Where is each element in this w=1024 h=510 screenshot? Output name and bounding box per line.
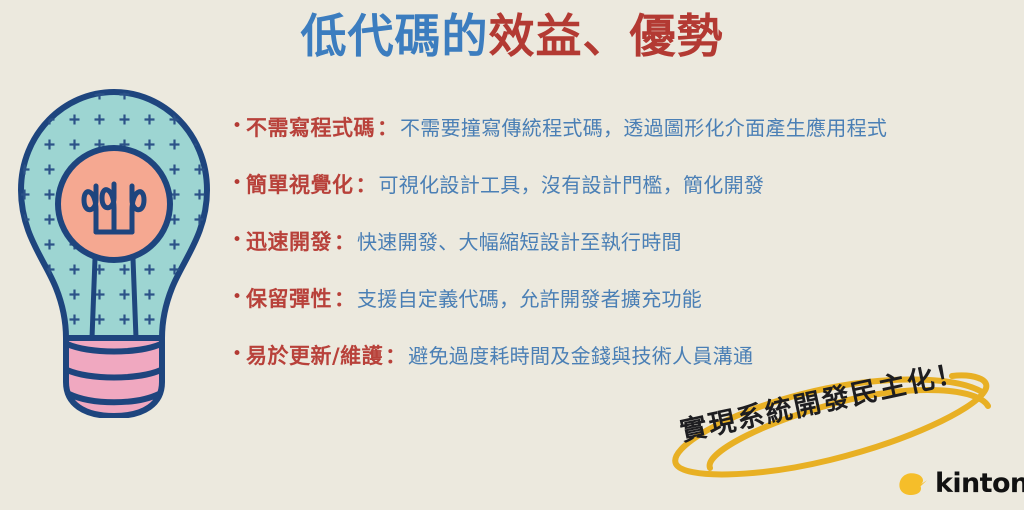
kintone-blob-icon [898, 471, 928, 497]
slide-canvas: 低代碼的效益、優勢 [0, 0, 1024, 510]
bullet-marker-icon: • [232, 289, 246, 306]
callout-highlight: 實現系統開發民主化！ [652, 372, 1012, 482]
list-item: • 不需寫程式碼 ： 不需要撞寫傳統程式碼，透過圖形化介面產生應用程式 [232, 98, 1018, 155]
list-item-body: 避免過度耗時間及金錢與技術人員溝通 [408, 340, 753, 369]
kintone-logo: kintone [898, 470, 1024, 497]
list-item-colon: ： [332, 283, 357, 313]
bullet-marker-icon: • [232, 175, 246, 192]
title-part-red: 效益、優勢 [489, 9, 724, 63]
list-item-heading: 迅速開發 [246, 226, 332, 256]
list-item-heading: 保留彈性 [246, 283, 332, 313]
list-item-heading: 簡單視覺化 [246, 169, 354, 199]
list-item: • 簡單視覺化 ： 可視化設計工具，沒有設計門檻，簡化開發 [232, 155, 1018, 212]
list-item: • 保留彈性 ： 支援自定義代碼，允許開發者擴充功能 [232, 269, 1018, 326]
list-item-colon: ： [375, 112, 400, 142]
list-item-body: 可視化設計工具，沒有設計門檻，簡化開發 [379, 169, 765, 198]
list-item-body: 不需要撞寫傳統程式碼，透過圖形化介面產生應用程式 [400, 112, 887, 141]
bullet-marker-icon: • [232, 232, 246, 249]
list-item: • 迅速開發 ： 快速開發、大幅縮短設計至執行時間 [232, 212, 1018, 269]
list-item-colon: ： [354, 169, 379, 199]
light-bulb-illustration [12, 82, 217, 418]
bullet-marker-icon: • [232, 118, 246, 135]
list-item-heading: 不需寫程式碼 [246, 112, 375, 142]
list-item-body: 快速開發、大幅縮短設計至執行時間 [357, 226, 682, 255]
kintone-wordmark: kintone [935, 470, 1024, 497]
title-part-blue: 低代碼的 [301, 9, 489, 63]
list-item-body: 支援自定義代碼，允許開發者擴充功能 [357, 283, 702, 312]
page-title: 低代碼的效益、優勢 [0, 8, 1024, 66]
benefits-list: • 不需寫程式碼 ： 不需要撞寫傳統程式碼，透過圖形化介面產生應用程式 • 簡單… [232, 98, 1018, 383]
list-item-colon: ： [383, 340, 408, 370]
list-item-heading: 易於更新/維護 [246, 340, 383, 370]
list-item-colon: ： [332, 226, 357, 256]
bullet-marker-icon: • [232, 346, 246, 363]
